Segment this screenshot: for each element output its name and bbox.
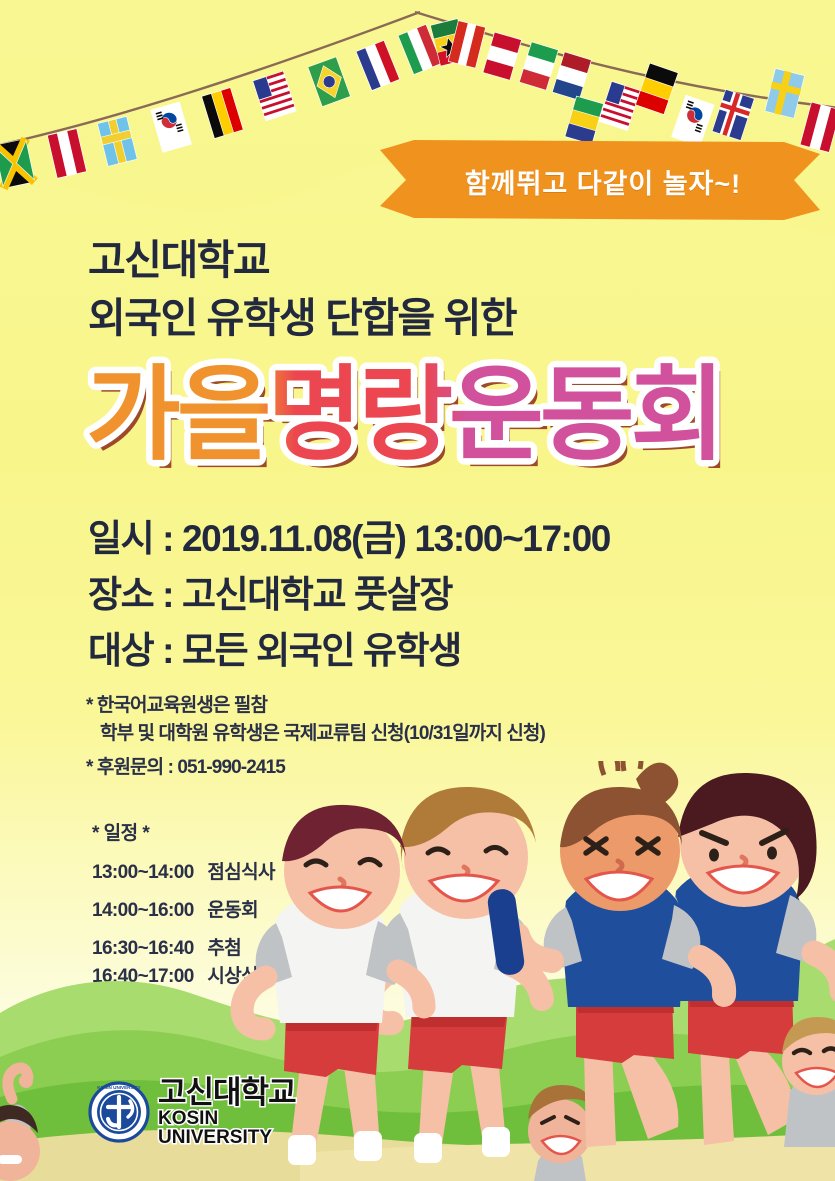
logo-name-korean: 고신대학교 [158,1077,328,1108]
event-title-fill: 가을명랑운동회 [86,357,721,472]
ribbon-slogan: 함께뛰고 다같이 놀자~! [380,140,820,222]
info-date: 일시 : 2019.11.08(금) 13:00~17:00 [88,508,610,562]
kosin-emblem-icon: KOSIN UNIVERSITY [88,1081,150,1143]
child-cheering-right [782,1017,835,1147]
note-line-1: * 한국어교육원생은 필참 [86,690,267,717]
heading-line-2: 외국인 유학생 단합을 위한 [88,284,516,344]
logo-wordmark: 고신대학교 KOSIN UNIVERSITY [158,1077,328,1147]
info-place: 장소 : 고신대학교 풋살장 [88,564,452,618]
child-cheering-left [0,1068,40,1181]
note-line-2: 학부 및 대학원 유학생은 국제교류팀 신청(10/31일까지 신청) [100,718,545,745]
child-pair-blue [486,761,835,1147]
kosin-university-logo: KOSIN UNIVERSITY 고신대학교 KOSIN UNIVERSITY [88,1079,328,1145]
event-title-art: 가을명랑운동회 가을명랑운동회 가을명랑운동회 [0,352,835,482]
info-target: 대상 : 모든 외국인 유학생 [88,620,461,674]
event-title: 가을명랑운동회 가을명랑운동회 가을명랑운동회 [0,352,835,482]
logo-name-english: KOSIN UNIVERSITY [158,1109,328,1147]
heading-line-1: 고신대학교 [88,226,269,286]
poster-canvas: 함께뛰고 다같이 놀자~! 고신대학교 외국인 유학생 단합을 위한 가을명랑운… [0,0,835,1181]
emblem-ring-text: KOSIN UNIVERSITY [97,1085,140,1090]
